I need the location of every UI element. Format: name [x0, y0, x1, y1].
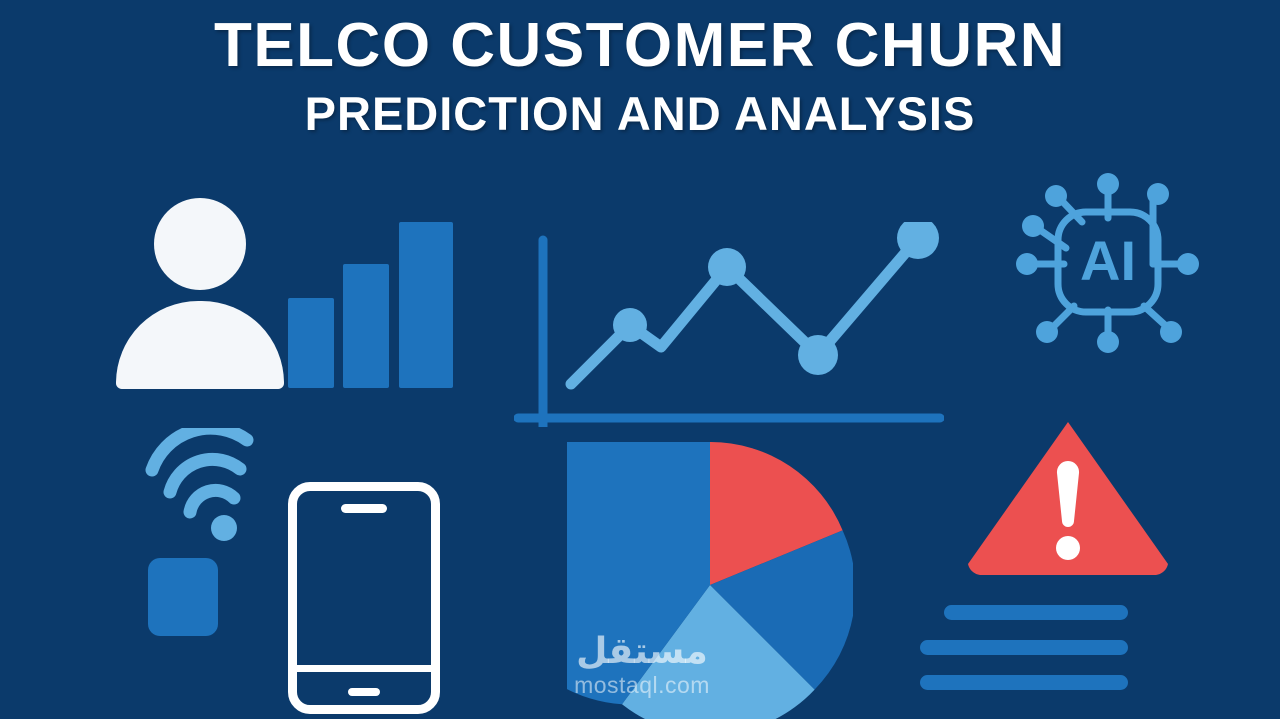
line-chart-point-1 [613, 308, 647, 342]
text-lines-icon [920, 605, 1128, 695]
poster-title-main: TELCO CUSTOMER CHURN [0, 14, 1280, 78]
ai-chip-label: AI [1080, 229, 1136, 292]
bar-chart-icon [288, 222, 453, 388]
line-chart-point-3 [798, 335, 838, 375]
wifi-arc-inner [190, 490, 234, 512]
ai-chip-svg: AI [1016, 170, 1201, 355]
bar-chart-bar-1 [288, 298, 334, 388]
warning-triangle-icon [960, 418, 1176, 578]
poster-canvas: TELCO CUSTOMER CHURN PREDICTION AND ANAL… [0, 0, 1280, 719]
text-line-3 [920, 675, 1128, 690]
person-icon [116, 198, 284, 388]
text-line-1 [944, 605, 1128, 620]
wifi-arcs [152, 428, 247, 512]
smartphone-icon [288, 482, 440, 714]
modem-square-icon [148, 558, 218, 636]
poster-title-block: TELCO CUSTOMER CHURN PREDICTION AND ANAL… [0, 14, 1280, 140]
person-body-shape [116, 301, 284, 389]
bar-chart-bar-3 [399, 222, 453, 388]
person-head-shape [154, 198, 246, 290]
pie-chart-icon [567, 442, 853, 719]
wifi-icon [142, 428, 272, 543]
warning-exclamation-dot [1056, 536, 1080, 560]
pie-chart-svg [567, 442, 853, 719]
smartphone-screen-divider [297, 665, 431, 672]
smartphone-home-button [348, 688, 380, 696]
line-chart-point-2 [708, 248, 746, 286]
bar-chart-bar-2 [343, 264, 389, 388]
poster-title-sub: PREDICTION AND ANALYSIS [0, 88, 1280, 140]
smartphone-body [288, 482, 440, 714]
wifi-svg [142, 428, 272, 543]
smartphone-speaker [341, 504, 387, 513]
ai-chip-icon: AI [1016, 170, 1201, 355]
text-line-2 [920, 640, 1128, 655]
warning-triangle-svg [960, 418, 1176, 578]
wifi-dot [211, 515, 237, 541]
line-chart-svg [514, 222, 944, 427]
line-chart-icon [514, 222, 944, 427]
